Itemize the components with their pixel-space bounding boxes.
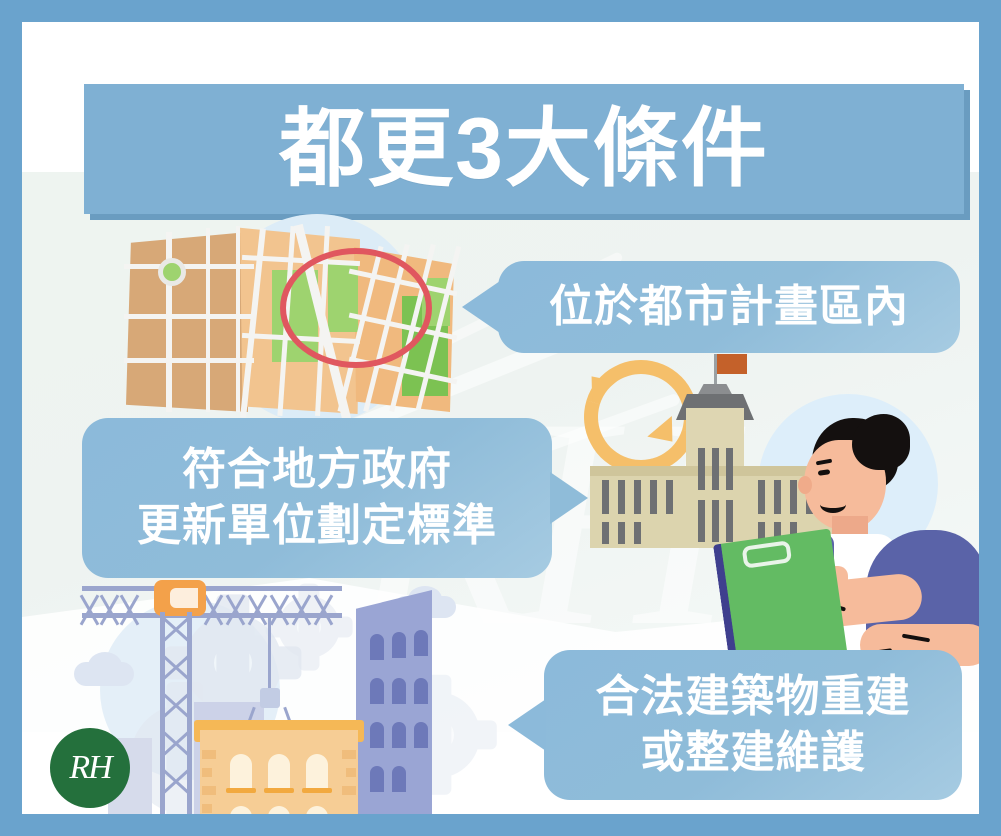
flag-icon [717,354,747,374]
orange-building-sill [264,788,294,793]
person-illustration [756,418,979,658]
condition-2-text: 符合地方政府 更新單位劃定標準 [121,442,513,554]
building-brick [342,750,356,759]
orange-building-window [268,754,290,788]
clipboard-clamp [742,540,793,568]
person-ear [798,476,812,494]
person-hair-fringe [852,414,910,470]
building-window [602,480,609,514]
building-brick [342,786,356,795]
logo-monogram: RH [69,749,110,787]
infographic-poster: RH 都更3大條件 [0,0,1001,836]
crane-cable [268,616,271,690]
bubble-tail-left [508,699,546,751]
tall-building-window [414,678,428,704]
condition-bubble-3[interactable]: 合法建築物重建 或整建維護 [544,650,962,800]
tall-building-window [370,766,384,792]
building-brick [202,750,216,759]
condition-3-text: 合法建築物重建 或整建維護 [580,669,927,781]
condition-3-line-1: 合法建築物重建 [596,669,911,725]
person-smile [820,496,846,513]
tall-building-window [370,634,384,660]
building-window [698,448,705,490]
title-band: 都更3大條件 [84,84,964,214]
orange-building-window [306,754,328,788]
map-illustration [122,218,452,418]
recycle-arrows-icon [584,360,680,456]
building-brick [202,804,212,813]
building-window [726,500,733,542]
crane-jib [82,586,342,618]
map-road-v-2 [206,228,210,412]
building-window [726,448,733,490]
building-brick [346,768,356,777]
tall-building-window [370,678,384,704]
tall-building-window [370,722,384,748]
tall-building-window [392,766,406,792]
condition-2-line-2: 更新單位劃定標準 [137,498,497,554]
gear-hole [214,644,252,682]
tall-building-window [392,722,406,748]
tall-building-window [414,722,428,748]
orange-building-window [230,754,252,788]
map-road-v-3 [236,226,240,412]
condition-bubble-2[interactable]: 符合地方政府 更新單位劃定標準 [82,418,552,578]
building-window [712,500,719,542]
government-scene [578,358,979,658]
building-window [602,522,609,544]
page-title: 都更3大條件 [279,101,769,197]
building-window [618,480,625,514]
orange-building-sill [226,788,256,793]
bubble-tail-right [550,472,588,524]
tall-building-window [392,632,406,658]
map-highlight-circle [280,248,432,368]
building-window [634,480,641,514]
map-road-h-3 [124,358,254,363]
crane-hook [260,688,280,708]
orange-building-sill [302,788,332,793]
condition-2-line-1: 符合地方政府 [137,442,497,498]
crane-counterweight-inner [170,588,198,608]
tall-building-window [414,630,428,656]
building-window [666,480,673,514]
map-road-h-1 [124,264,254,269]
map-roundabout-icon [158,258,186,286]
tall-building-window [392,678,406,704]
condition-3-line-2: 或整建維護 [596,725,911,781]
condition-bubble-1[interactable]: 位於都市計畫區內 [498,261,960,353]
building-window [712,448,719,490]
building-window [634,522,641,544]
building-brick [202,768,212,777]
building-window [650,480,657,514]
map-panel-left [126,232,248,412]
building-window [698,500,705,542]
building-window [618,522,625,544]
poster-canvas: RH 都更3大條件 [22,22,979,814]
building-brick [202,786,216,795]
map-road-h-2 [124,314,254,319]
brand-logo[interactable]: RH [50,728,130,808]
bubble-tail-left [462,281,500,333]
cloud-icon-2 [88,652,122,680]
condition-1-text: 位於都市計畫區內 [533,279,925,335]
